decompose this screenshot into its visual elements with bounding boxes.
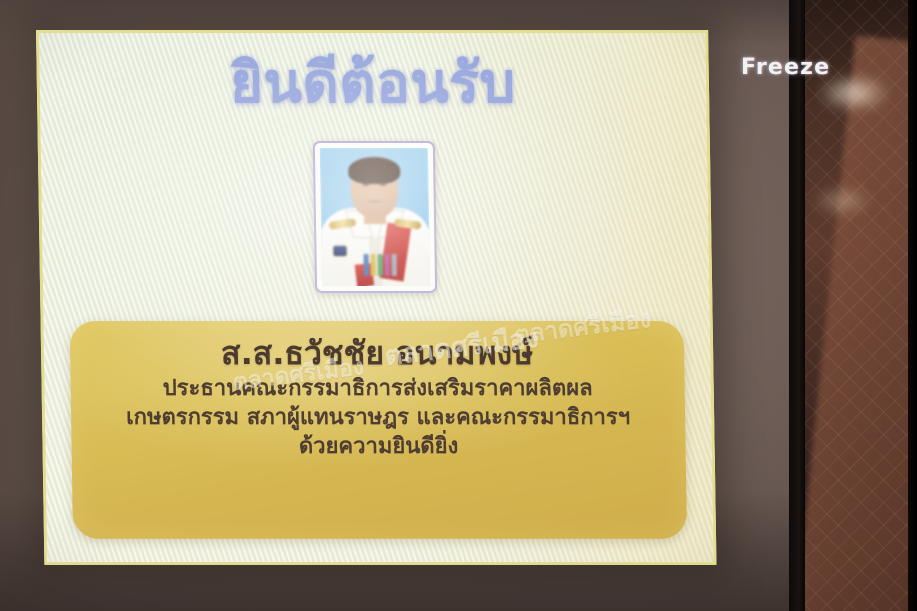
uniform-lapel [369,238,382,286]
portrait-hair [348,157,400,184]
portrait-softness-overlay [320,148,430,286]
caption-box: ส.ส.ธวัชชัย อนามพงษ์ ประธานคณะกรรมาธิการ… [70,321,687,539]
screen-frame-post [789,0,805,611]
person-name: ส.ส.ธวัชชัย อนามพงษ์ [86,335,669,372]
uniform-badge [333,246,346,256]
osd-freeze-label: Freeze [741,55,830,80]
role-line-3: ด้วยความยินดียิ่ง [87,432,670,461]
portrait-photo [320,148,430,286]
right-edge-post [908,0,917,611]
screen-surface: ยินดีต้อนรับ [36,30,716,565]
projection-screen: ยินดีต้อนรับ [36,30,716,565]
red-sash-lower [355,263,375,286]
role-line-1: ประธานคณะกรรมาธิการส่งเสริมราคาผลิตผล [86,374,669,403]
medal-ribbons [364,254,398,276]
portrait-ear-right [389,182,397,196]
portrait-eye-left [362,183,369,186]
uniform-collar-left [345,210,373,238]
epaulette-left [329,218,357,230]
slide-title: ยินดีต้อนรับ [39,55,706,114]
red-sash [380,222,412,281]
portrait-neck [364,210,386,224]
portrait-head [351,160,399,218]
portrait-eye-right [379,183,386,186]
slide-canvas: ยินดีต้อนรับ [39,33,713,562]
background-light-glow-secondary [807,190,877,212]
background-light-glow [811,78,897,108]
epaulette-right [394,218,422,230]
background-right-area [805,0,917,611]
role-line-2: เกษตรกรรม สภาผู้แทนราษฎร และคณะกรรมาธิกา… [87,403,670,432]
screenshot-root: ยินดีต้อนรับ [0,0,917,611]
portrait-mouth [368,200,382,203]
portrait-frame [313,141,437,293]
portrait-ear-left [351,182,359,196]
uniform-body [320,208,430,286]
uniform-collar-right [377,210,405,238]
